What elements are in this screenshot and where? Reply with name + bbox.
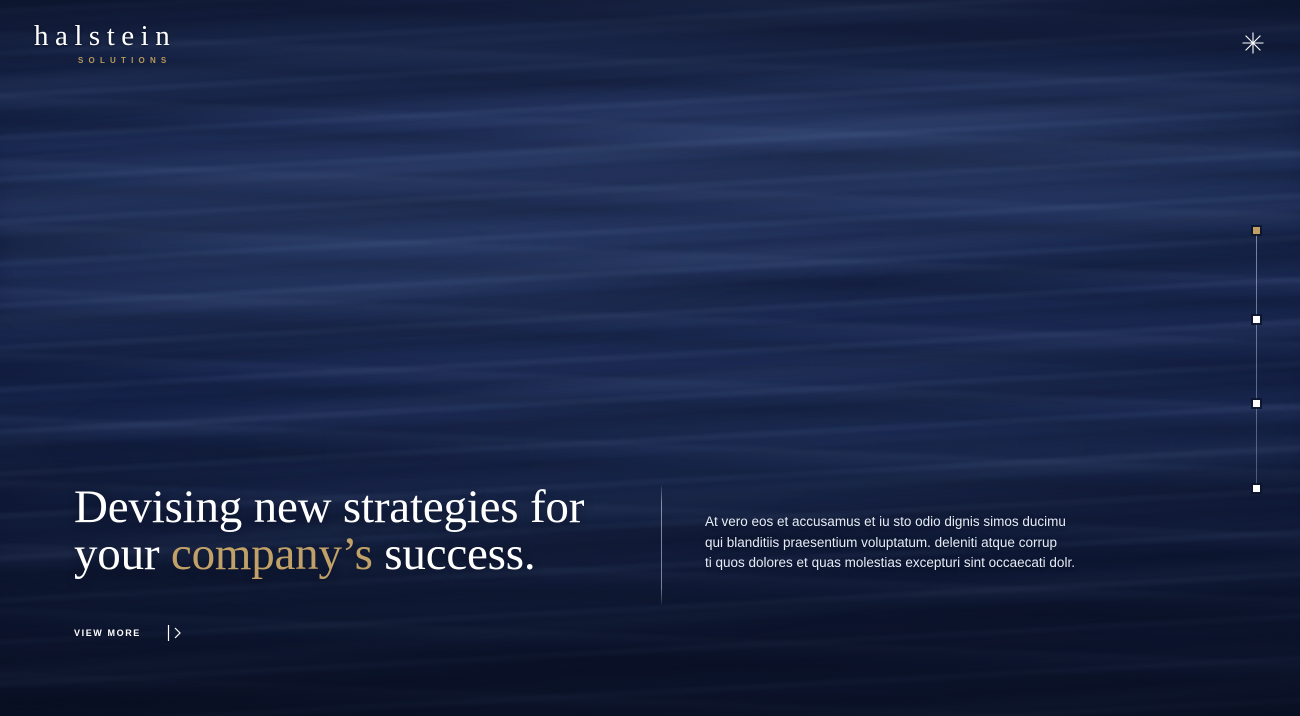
pager-dot-1[interactable] [1253, 227, 1260, 234]
headline-text-highlight: company’s [171, 528, 373, 580]
hero-body-line-3: ti quos dolores et quas molestias except… [705, 553, 1105, 574]
hero-left-column: Devising new strategies for your company… [74, 466, 634, 642]
hero-page: halstein SOLUTIONS [0, 0, 1300, 716]
view-more-label: VIEW MORE [74, 628, 141, 638]
hero-vertical-divider [661, 486, 662, 604]
headline-text-end: success. [373, 528, 536, 580]
hero-body-line-2: qui blanditiis praesentium voluptatum. d… [705, 533, 1105, 554]
slide-pager [1250, 222, 1264, 494]
chevron-right-icon [167, 624, 185, 642]
page-title: Devising new strategies for your company… [74, 484, 634, 578]
pager-dot-4[interactable] [1253, 485, 1260, 492]
hero-body-line-1: At vero eos et accusamus et iu sto odio … [705, 512, 1105, 533]
view-more-button[interactable]: VIEW MORE [74, 624, 185, 642]
site-header: halstein SOLUTIONS [0, 0, 1300, 86]
hero-body-copy: At vero eos et accusamus et iu sto odio … [705, 512, 1105, 574]
asterisk-star-icon [1241, 31, 1265, 55]
brand-logo[interactable]: halstein SOLUTIONS [34, 22, 176, 65]
pager-dot-2[interactable] [1253, 316, 1260, 323]
hero-section: Devising new strategies for your company… [0, 466, 1300, 716]
menu-toggle-button[interactable] [1236, 26, 1270, 60]
brand-tagline: SOLUTIONS [78, 57, 176, 65]
pager-dot-3[interactable] [1253, 400, 1260, 407]
hero-right-column: At vero eos et accusamus et iu sto odio … [705, 512, 1105, 574]
brand-name: halstein [34, 22, 176, 51]
pager-track [1256, 228, 1257, 490]
